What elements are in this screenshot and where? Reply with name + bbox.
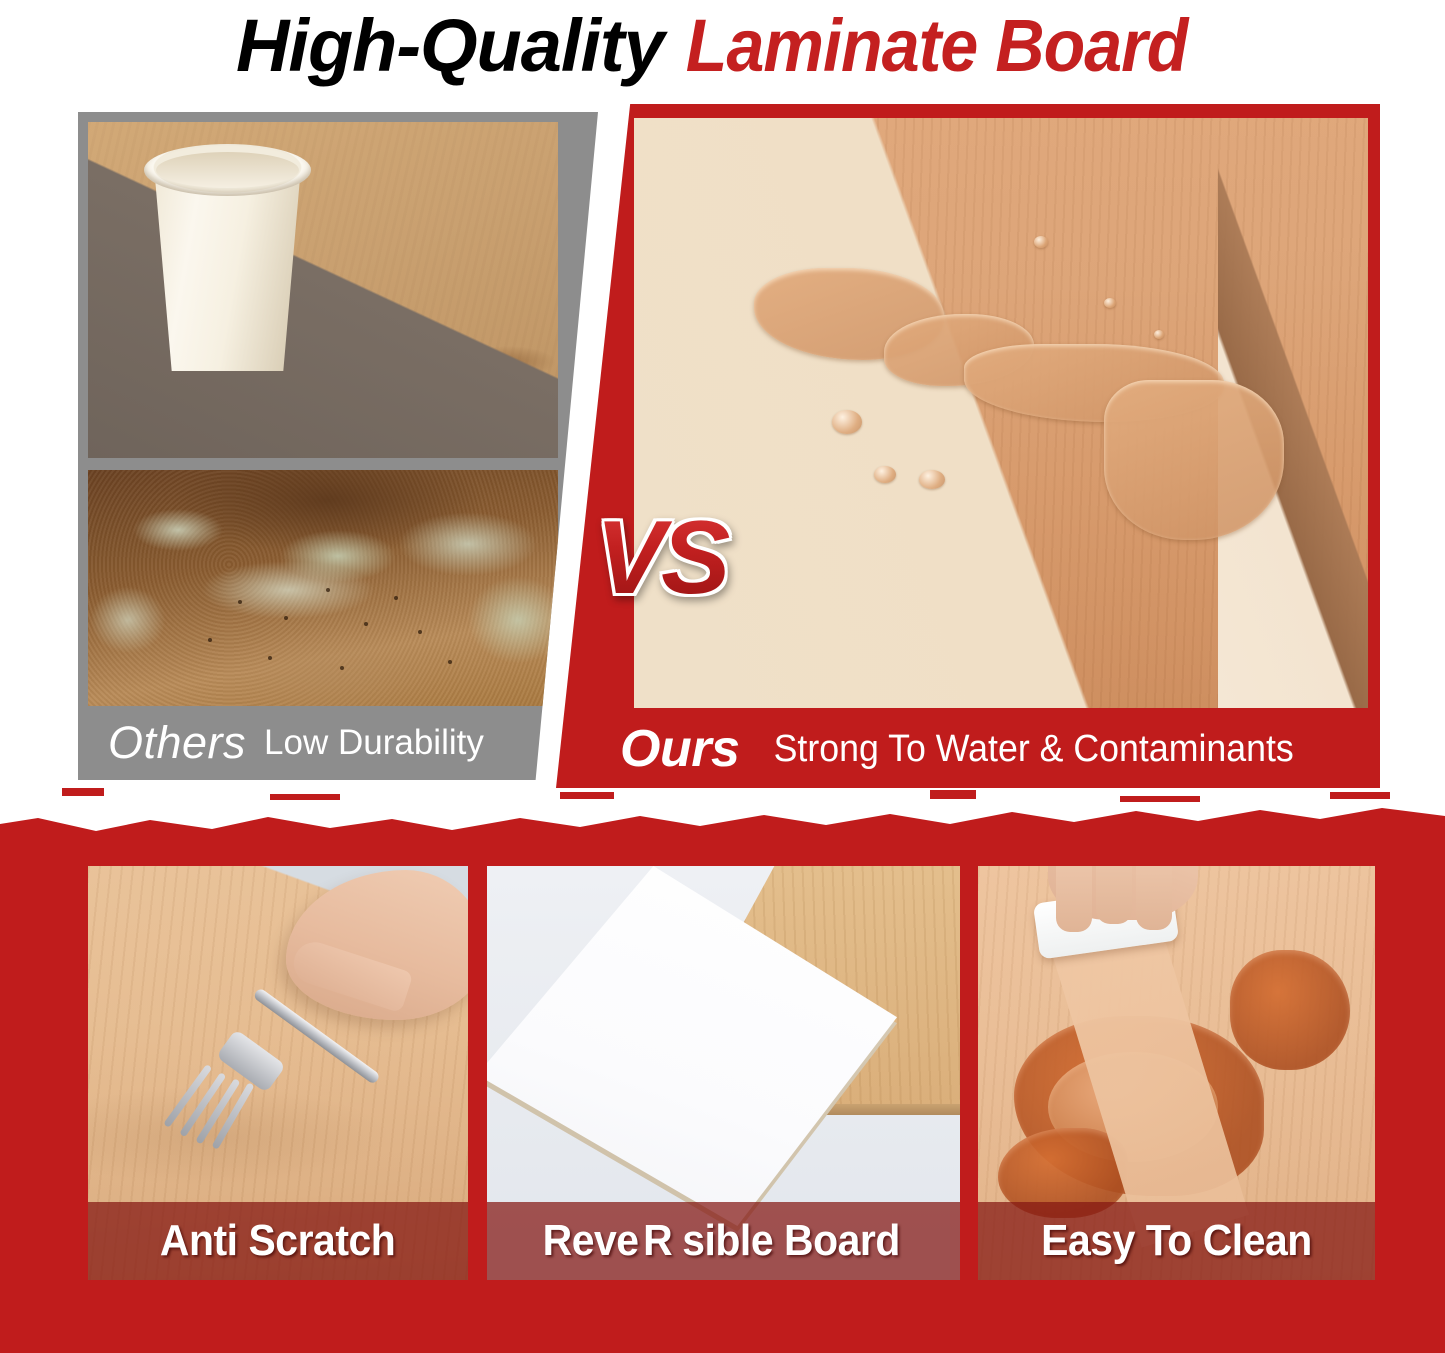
finger-1 [1056, 866, 1092, 932]
sauce-spill-right [1230, 950, 1350, 1070]
water-droplet-2 [874, 466, 896, 483]
water-droplet-3 [919, 470, 945, 489]
feature-label-easy-to-clean: Easy To Clean [978, 1202, 1375, 1280]
ours-panel: Ours Strong To Water & Contaminants [556, 104, 1380, 788]
title-part-black: High-Quality [236, 2, 664, 90]
paper-cup-interior [156, 152, 299, 188]
marketing-infographic: High-Quality Laminate Board [0, 0, 1445, 1353]
water-droplet-5 [1104, 298, 1116, 308]
feature-label-anti-scratch: Anti Scratch [88, 1202, 468, 1280]
others-label-strong: Others [108, 717, 246, 769]
feature-label-text-post: sible Board [682, 1216, 900, 1266]
liquid-runoff [1104, 380, 1284, 540]
page-title: High-Quality Laminate Board [0, 2, 1445, 90]
title-part-red: Laminate Board [686, 2, 1188, 90]
vs-badge: VS [576, 508, 746, 608]
feature-card-easy-to-clean: Easy To Clean [978, 866, 1375, 1280]
features-section: Anti Scratch ReveRsible Board [0, 866, 1445, 1286]
feature-label-text-pre: Reve [543, 1216, 639, 1266]
finger-3 [1136, 866, 1172, 930]
ours-label-text: Strong To Water & Contaminants [757, 728, 1310, 771]
ours-caption-bar: Ours Strong To Water & Contaminants [556, 710, 1380, 788]
water-droplet-1 [832, 410, 862, 434]
feature-card-anti-scratch: Anti Scratch [88, 866, 468, 1280]
others-panel: Others Low Durability [78, 112, 598, 780]
ours-label-text-inner: Strong To Water & Contaminants [774, 728, 1294, 771]
others-caption-bar: Others Low Durability [78, 706, 598, 780]
feature-label-reversible-board: ReveRsible Board [487, 1202, 960, 1280]
others-label-text: Low Durability [264, 723, 484, 763]
comparison-section: Others Low Durability Ours [0, 96, 1445, 796]
feature-label-reversed-r: R [643, 1216, 672, 1266]
water-beading-image [634, 118, 1368, 708]
ours-label-strong: Ours [620, 719, 739, 779]
water-droplet-4 [1034, 236, 1048, 248]
finger-2 [1096, 866, 1132, 924]
feature-label-text: Easy To Clean [1041, 1216, 1312, 1266]
spilled-drink-image [88, 122, 558, 458]
feature-label-text: Anti Scratch [160, 1216, 395, 1266]
feature-card-reversible-board: ReveRsible Board [487, 866, 960, 1280]
water-droplet-6 [1154, 330, 1164, 339]
mold-growth-image [88, 470, 558, 706]
others-panel-inner: Others Low Durability [78, 112, 598, 780]
